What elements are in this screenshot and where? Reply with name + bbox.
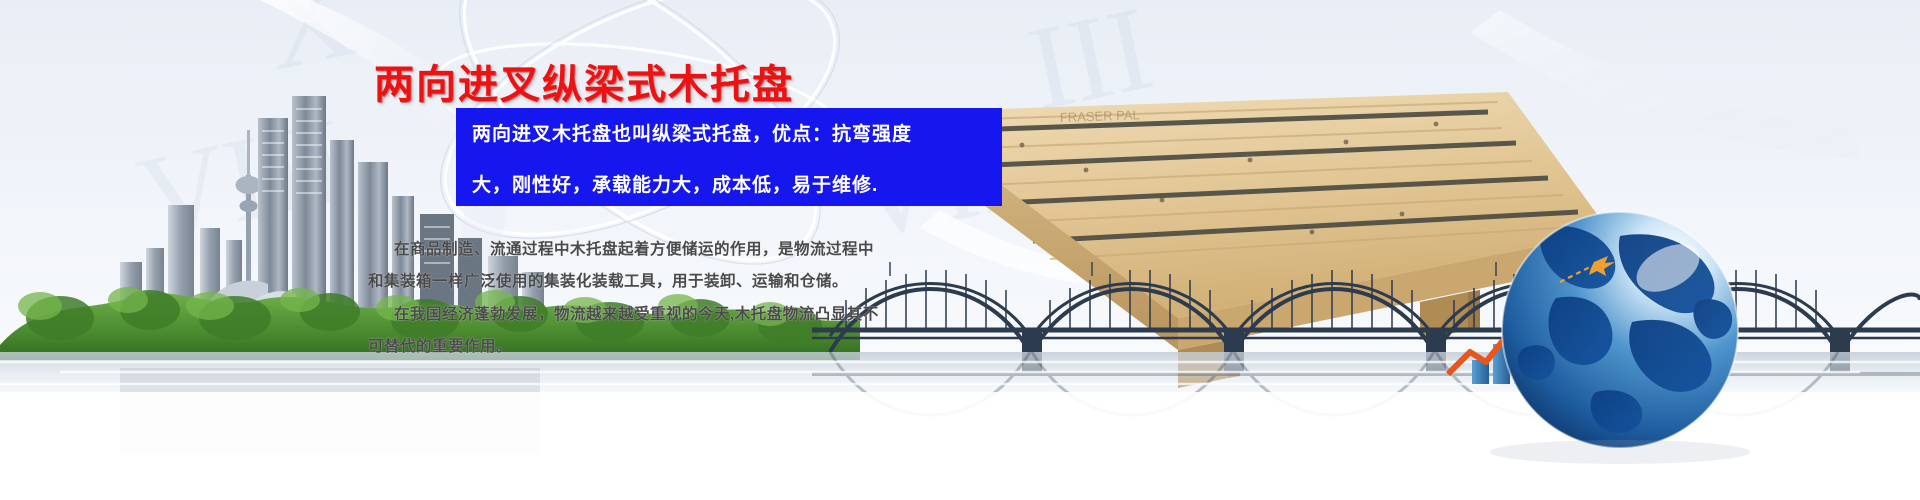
globe-shadow (1490, 440, 1750, 464)
banner-root: VIII X VII III XI (0, 0, 1920, 500)
body-paragraph-line-1: 在商品制造、流通过程中木托盘起着方便储运的作用，是物流过程中 (368, 240, 1008, 259)
highlight-line-2: 大，刚性好，承载能力大，成本低，易于维修. (456, 146, 1002, 197)
body-paragraph-line-2: 和集装箱一样广泛使用的集装化装载工具，用于装卸、运输和仓储。 (368, 272, 1008, 291)
svg-text:FRASER PAL: FRASER PAL (1060, 107, 1140, 125)
globe-graphic (1502, 212, 1738, 448)
page-title: 两向进叉纵梁式木托盘 (374, 52, 794, 110)
body-copy: 在商品制造、流通过程中木托盘起着方便储运的作用，是物流过程中 和集装箱一样广泛使… (368, 240, 1008, 370)
highlight-callout-box: 两向进叉木托盘也叫纵梁式托盘，优点：抗弯强度 大，刚性好，承载能力大，成本低，易… (456, 108, 1002, 206)
highlight-line-1: 两向进叉木托盘也叫纵梁式托盘，优点：抗弯强度 (456, 108, 1002, 146)
body-paragraph-line-4: 可替代的重要作用。 (368, 337, 1008, 356)
body-paragraph-line-3: 在我国经济蓬勃发展，物流越来越受重视的今天,木托盘物流凸显其不 (368, 305, 1008, 324)
